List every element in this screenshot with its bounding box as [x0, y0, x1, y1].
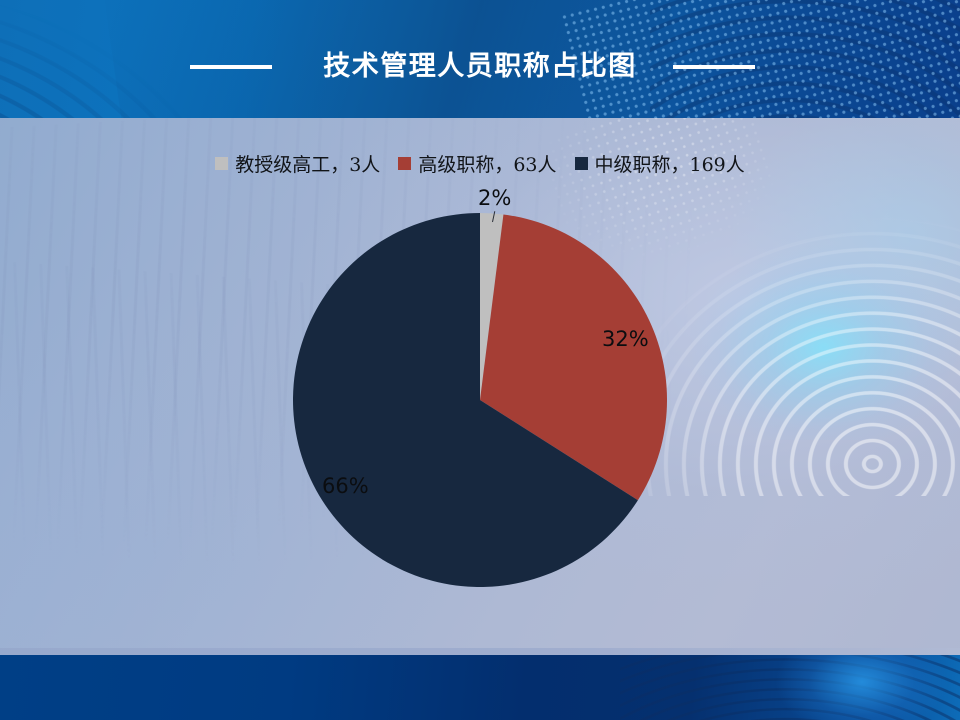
- pie-chart-svg: [293, 213, 667, 587]
- footer-banner: [0, 655, 960, 720]
- pie-data-label-intermediate-title: 66%: [322, 474, 369, 498]
- chart-legend: 教授级高工，3人 高级职称，63人 中级职称，169人: [0, 150, 960, 177]
- legend-item-senior-title[interactable]: 高级职称，63人: [398, 150, 556, 177]
- legend-item-label: 高级职称，63人: [418, 150, 556, 177]
- pie-chart: [293, 213, 667, 587]
- legend-item-label: 中级职称，169人: [595, 150, 745, 177]
- footer-lip: [0, 648, 960, 655]
- legend-item-label: 教授级高工，3人: [235, 150, 380, 177]
- legend-item-professor-level[interactable]: 教授级高工，3人: [215, 150, 380, 177]
- title-banner: 技术管理人员职称占比图: [0, 0, 960, 118]
- slide-canvas: 技术管理人员职称占比图 教授级高工，3人 高级职称，63人 中级职称，169人 …: [0, 0, 960, 720]
- pie-data-label-professor-level: 2%: [478, 186, 511, 210]
- legend-swatch-icon: [575, 157, 588, 170]
- footer-glow: [730, 655, 950, 720]
- legend-swatch-icon: [215, 157, 228, 170]
- legend-item-intermediate-title[interactable]: 中级职称，169人: [575, 150, 745, 177]
- legend-swatch-icon: [398, 157, 411, 170]
- page-title: 技术管理人员职称占比图: [0, 44, 960, 83]
- pie-data-label-senior-title: 32%: [602, 327, 649, 351]
